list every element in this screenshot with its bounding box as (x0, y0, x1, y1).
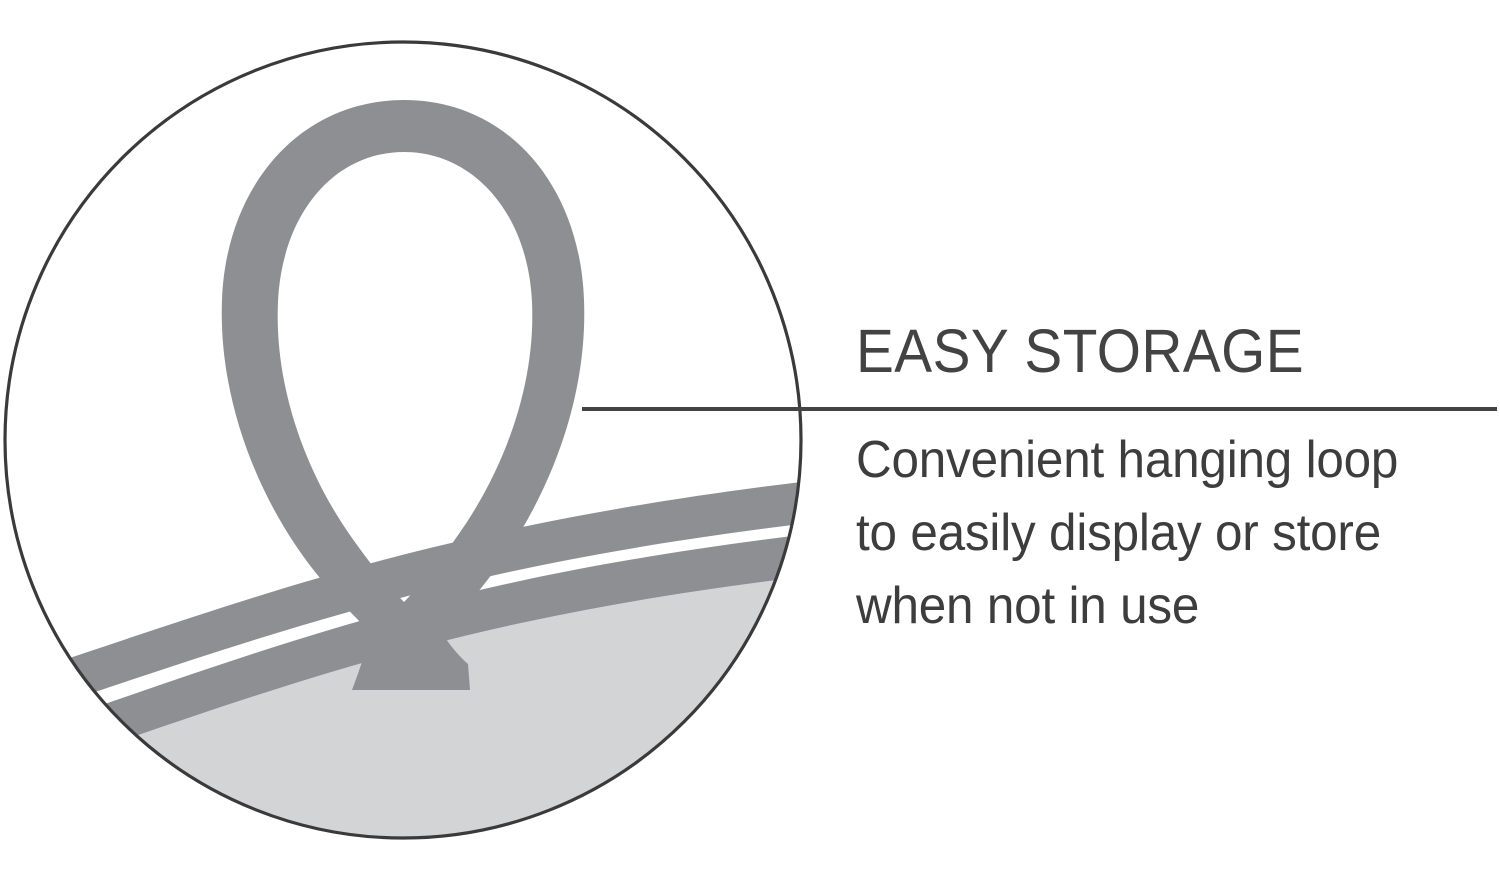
callout-body-line-3: when not in use (856, 570, 1468, 643)
callout-body-line-2: to easily display or store (856, 497, 1468, 570)
callout-body-line-1: Convenient hanging loop (856, 424, 1468, 497)
callout-heading: EASY STORAGE (856, 318, 1455, 384)
callout-text-block: EASY STORAGE Convenient hanging loop to … (856, 318, 1500, 643)
feature-callout-canvas: EASY STORAGE Convenient hanging loop to … (0, 0, 1500, 872)
easy-storage-illustration (0, 0, 850, 872)
callout-body: Convenient hanging loop to easily displa… (856, 424, 1468, 643)
